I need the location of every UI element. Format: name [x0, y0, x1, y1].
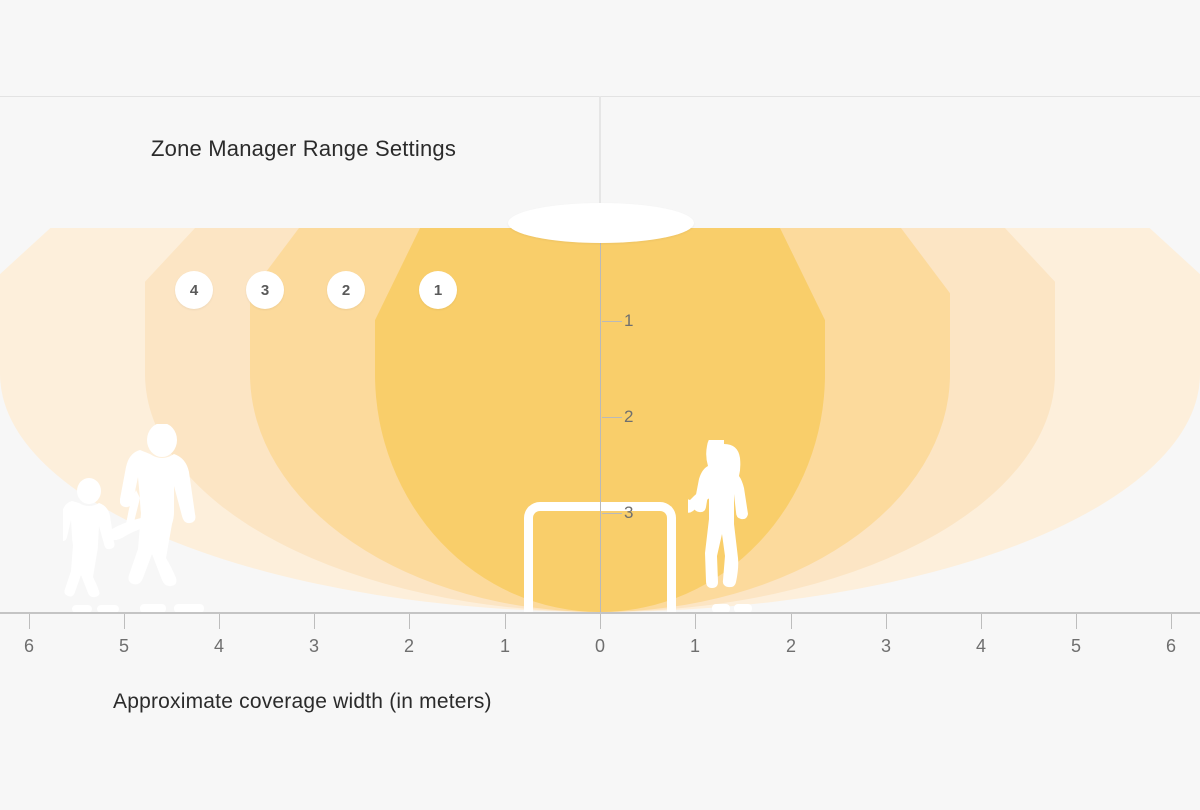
horizontal-tick-7 [695, 614, 696, 629]
zone-badge-1-label: 1 [434, 282, 442, 299]
vertical-tick-2 [602, 417, 622, 418]
vertical-tick-3 [602, 513, 622, 514]
horizontal-tick-11 [1076, 614, 1077, 629]
horizontal-tick-label-10: 4 [976, 636, 986, 657]
vertical-tick-label-3: 3 [624, 503, 633, 523]
horizontal-tick-label-5: 1 [500, 636, 510, 657]
zone-badge-4[interactable]: 4 [175, 271, 213, 309]
horizontal-tick-4 [409, 614, 410, 629]
horizontal-tick-9 [886, 614, 887, 629]
woman-with-tablet-icon [688, 440, 766, 614]
zone-badge-1[interactable]: 1 [419, 271, 457, 309]
horizontal-tick-2 [219, 614, 220, 629]
horizontal-tick-label-7: 1 [690, 636, 700, 657]
zone-badge-3-label: 3 [261, 282, 269, 299]
horizontal-tick-label-2: 4 [214, 636, 224, 657]
horizontal-tick-1 [124, 614, 125, 629]
horizontal-tick-label-1: 5 [119, 636, 129, 657]
holding-hands-icon [105, 512, 161, 540]
horizontal-tick-12 [1171, 614, 1172, 629]
horizontal-tick-label-6: 0 [595, 636, 605, 657]
zone-badge-4-label: 4 [190, 282, 198, 299]
pendant-lamp-icon [508, 203, 694, 243]
page-title: Zone Manager Range Settings [151, 136, 456, 162]
vertical-tick-label-2: 2 [624, 407, 633, 427]
vertical-axis-line [600, 218, 601, 612]
zone-coverage-diagram: Zone Manager Range Settings 4 3 2 1 [0, 0, 1200, 810]
zone-badge-3[interactable]: 3 [246, 271, 284, 309]
horizontal-tick-label-3: 3 [309, 636, 319, 657]
horizontal-tick-label-8: 2 [786, 636, 796, 657]
horizontal-tick-6 [600, 614, 601, 629]
x-axis-caption: Approximate coverage width (in meters) [113, 690, 492, 714]
horizontal-tick-label-4: 2 [404, 636, 414, 657]
horizontal-tick-label-0: 6 [24, 636, 34, 657]
child-walking-icon [63, 478, 125, 614]
zone-badge-2[interactable]: 2 [327, 271, 365, 309]
horizontal-tick-8 [791, 614, 792, 629]
zone-badge-2-label: 2 [342, 282, 350, 299]
pendant-rod-icon [599, 96, 601, 218]
horizontal-tick-3 [314, 614, 315, 629]
vertical-tick-label-1: 1 [624, 311, 633, 331]
horizontal-tick-label-12: 6 [1166, 636, 1176, 657]
horizontal-tick-5 [505, 614, 506, 629]
vertical-tick-1 [602, 321, 622, 322]
horizontal-tick-0 [29, 614, 30, 629]
horizontal-tick-label-9: 3 [881, 636, 891, 657]
horizontal-tick-10 [981, 614, 982, 629]
horizontal-tick-label-11: 5 [1071, 636, 1081, 657]
